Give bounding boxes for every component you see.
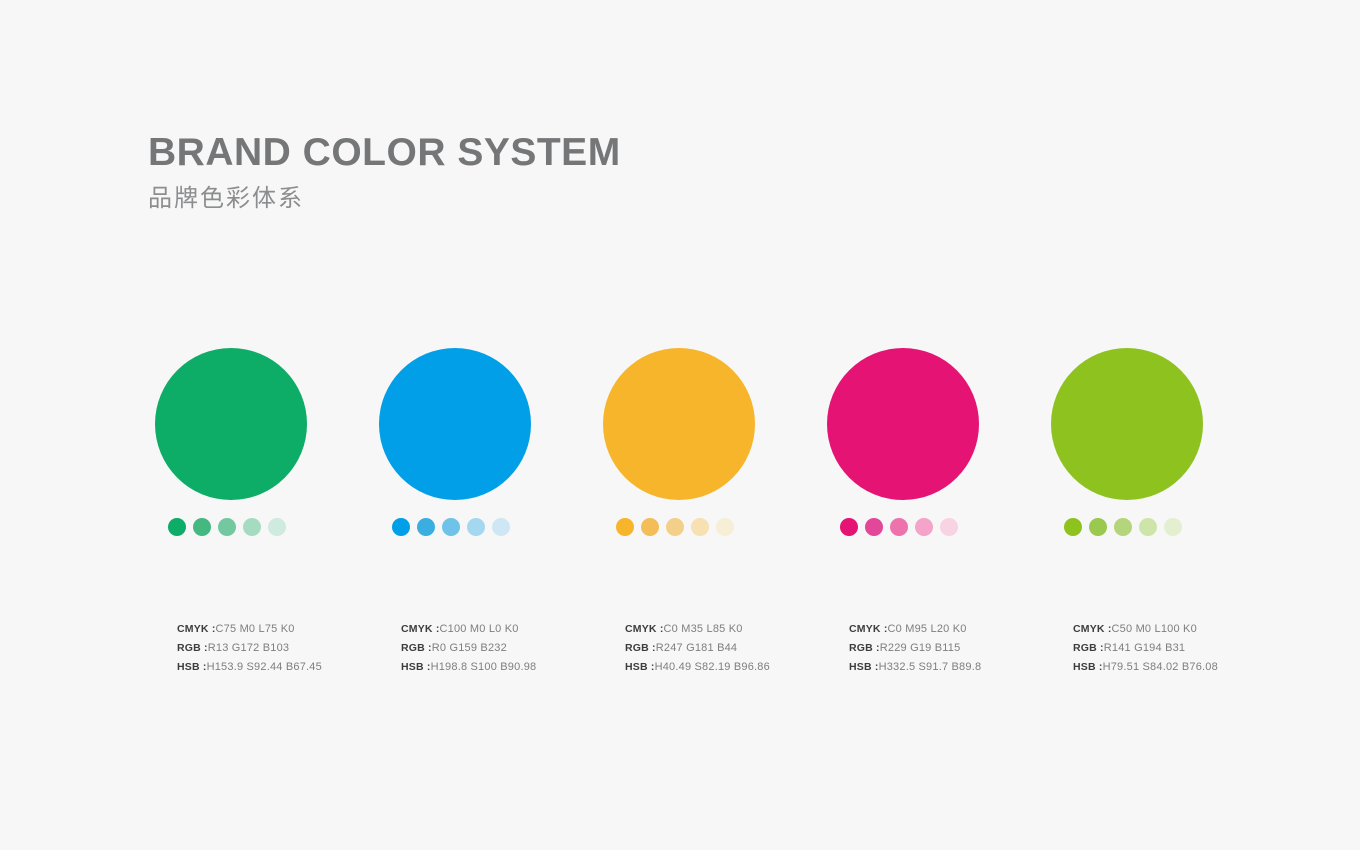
spec-value-rgb: R13 G172 B103: [208, 642, 290, 654]
tint-dot-lime-4[interactable]: [1139, 518, 1157, 536]
main-color-circle-green[interactable]: [155, 348, 307, 500]
spec-value-hsb: H332.5 S91.7 B89.8: [879, 661, 982, 673]
spec-value-rgb: R141 G194 B31: [1104, 642, 1186, 654]
spec-label-rgb: RGB :: [1073, 642, 1104, 654]
spec-value-hsb: H198.8 S100 B90.98: [431, 661, 537, 673]
spec-label-rgb: RGB :: [177, 642, 208, 654]
color-swatch-lime[interactable]: CMYK :C50 M0 L100 K0RGB :R141 G194 B31HS…: [1051, 348, 1261, 500]
color-specs-green: CMYK :C75 M0 L75 K0RGB :R13 G172 B103HSB…: [177, 620, 322, 677]
spec-label-hsb: HSB :: [1073, 661, 1103, 673]
spec-line-rgb-lime: RGB :R141 G194 B31: [1073, 639, 1218, 658]
spec-line-hsb-green: HSB :H153.9 S92.44 B67.45: [177, 658, 322, 677]
color-specs-blue: CMYK :C100 M0 L0 K0RGB :R0 G159 B232HSB …: [401, 620, 536, 677]
spec-line-cmyk-pink: CMYK :C0 M95 L20 K0: [849, 620, 981, 639]
spec-value-cmyk: C0 M95 L20 K0: [888, 623, 967, 635]
spec-line-hsb-blue: HSB :H198.8 S100 B90.98: [401, 658, 536, 677]
spec-label-cmyk: CMYK :: [625, 623, 664, 635]
tint-dot-pink-1[interactable]: [840, 518, 858, 536]
color-swatch-blue[interactable]: CMYK :C100 M0 L0 K0RGB :R0 G159 B232HSB …: [379, 348, 589, 500]
spec-value-cmyk: C100 M0 L0 K0: [440, 623, 519, 635]
spec-label-hsb: HSB :: [401, 661, 431, 673]
spec-label-cmyk: CMYK :: [177, 623, 216, 635]
spec-value-rgb: R0 G159 B232: [432, 642, 507, 654]
spec-line-cmyk-green: CMYK :C75 M0 L75 K0: [177, 620, 322, 639]
spec-line-rgb-green: RGB :R13 G172 B103: [177, 639, 322, 658]
tint-dot-green-2[interactable]: [193, 518, 211, 536]
spec-label-hsb: HSB :: [849, 661, 879, 673]
color-specs-pink: CMYK :C0 M95 L20 K0RGB :R229 G19 B115HSB…: [849, 620, 981, 677]
tint-row-pink: [840, 518, 958, 536]
spec-value-rgb: R229 G19 B115: [880, 642, 961, 654]
tint-dot-green-1[interactable]: [168, 518, 186, 536]
tint-dot-green-4[interactable]: [243, 518, 261, 536]
tint-dot-blue-2[interactable]: [417, 518, 435, 536]
spec-label-cmyk: CMYK :: [849, 623, 888, 635]
color-specs-yellow: CMYK :C0 M35 L85 K0RGB :R247 G181 B44HSB…: [625, 620, 770, 677]
main-color-circle-pink[interactable]: [827, 348, 979, 500]
spec-line-rgb-yellow: RGB :R247 G181 B44: [625, 639, 770, 658]
spec-line-hsb-pink: HSB :H332.5 S91.7 B89.8: [849, 658, 981, 677]
main-color-circle-blue[interactable]: [379, 348, 531, 500]
color-swatch-pink[interactable]: CMYK :C0 M95 L20 K0RGB :R229 G19 B115HSB…: [827, 348, 1037, 500]
spec-line-cmyk-lime: CMYK :C50 M0 L100 K0: [1073, 620, 1218, 639]
spec-label-rgb: RGB :: [401, 642, 432, 654]
tint-dot-yellow-3[interactable]: [666, 518, 684, 536]
tint-row-yellow: [616, 518, 734, 536]
spec-line-cmyk-yellow: CMYK :C0 M35 L85 K0: [625, 620, 770, 639]
tint-dot-blue-3[interactable]: [442, 518, 460, 536]
tint-row-green: [168, 518, 286, 536]
tint-row-lime: [1064, 518, 1182, 536]
spec-value-cmyk: C50 M0 L100 K0: [1112, 623, 1197, 635]
tint-row-blue: [392, 518, 510, 536]
spec-line-hsb-yellow: HSB :H40.49 S82.19 B96.86: [625, 658, 770, 677]
spec-value-hsb: H79.51 S84.02 B76.08: [1103, 661, 1218, 673]
tint-dot-blue-4[interactable]: [467, 518, 485, 536]
spec-label-rgb: RGB :: [625, 642, 656, 654]
tint-dot-lime-3[interactable]: [1114, 518, 1132, 536]
tint-dot-lime-1[interactable]: [1064, 518, 1082, 536]
spec-line-hsb-lime: HSB :H79.51 S84.02 B76.08: [1073, 658, 1218, 677]
spec-line-cmyk-blue: CMYK :C100 M0 L0 K0: [401, 620, 536, 639]
tint-dot-yellow-2[interactable]: [641, 518, 659, 536]
color-swatch-green[interactable]: CMYK :C75 M0 L75 K0RGB :R13 G172 B103HSB…: [155, 348, 365, 500]
color-specs-lime: CMYK :C50 M0 L100 K0RGB :R141 G194 B31HS…: [1073, 620, 1218, 677]
spec-label-cmyk: CMYK :: [1073, 623, 1112, 635]
tint-dot-pink-3[interactable]: [890, 518, 908, 536]
page-header: BRAND COLOR SYSTEM 品牌色彩体系: [148, 130, 621, 216]
spec-value-cmyk: C75 M0 L75 K0: [216, 623, 295, 635]
tint-dot-pink-2[interactable]: [865, 518, 883, 536]
color-swatch-yellow[interactable]: CMYK :C0 M35 L85 K0RGB :R247 G181 B44HSB…: [603, 348, 813, 500]
spec-label-cmyk: CMYK :: [401, 623, 440, 635]
tint-dot-lime-5[interactable]: [1164, 518, 1182, 536]
tint-dot-green-3[interactable]: [218, 518, 236, 536]
page-subtitle: 品牌色彩体系: [148, 182, 621, 216]
tint-dot-yellow-5[interactable]: [716, 518, 734, 536]
brand-color-system-page: BRAND COLOR SYSTEM 品牌色彩体系 CMYK :C75 M0 L…: [0, 0, 1360, 850]
spec-line-rgb-blue: RGB :R0 G159 B232: [401, 639, 536, 658]
tint-dot-green-5[interactable]: [268, 518, 286, 536]
tint-dot-yellow-4[interactable]: [691, 518, 709, 536]
spec-value-rgb: R247 G181 B44: [656, 642, 738, 654]
spec-label-hsb: HSB :: [177, 661, 207, 673]
page-title: BRAND COLOR SYSTEM: [148, 130, 621, 176]
spec-value-hsb: H40.49 S82.19 B96.86: [655, 661, 770, 673]
spec-line-rgb-pink: RGB :R229 G19 B115: [849, 639, 981, 658]
spec-value-cmyk: C0 M35 L85 K0: [664, 623, 743, 635]
tint-dot-pink-5[interactable]: [940, 518, 958, 536]
tint-dot-blue-5[interactable]: [492, 518, 510, 536]
spec-label-hsb: HSB :: [625, 661, 655, 673]
spec-value-hsb: H153.9 S92.44 B67.45: [207, 661, 322, 673]
tint-dot-lime-2[interactable]: [1089, 518, 1107, 536]
main-color-circle-lime[interactable]: [1051, 348, 1203, 500]
tint-dot-blue-1[interactable]: [392, 518, 410, 536]
spec-label-rgb: RGB :: [849, 642, 880, 654]
tint-dot-pink-4[interactable]: [915, 518, 933, 536]
tint-dot-yellow-1[interactable]: [616, 518, 634, 536]
main-color-circle-yellow[interactable]: [603, 348, 755, 500]
